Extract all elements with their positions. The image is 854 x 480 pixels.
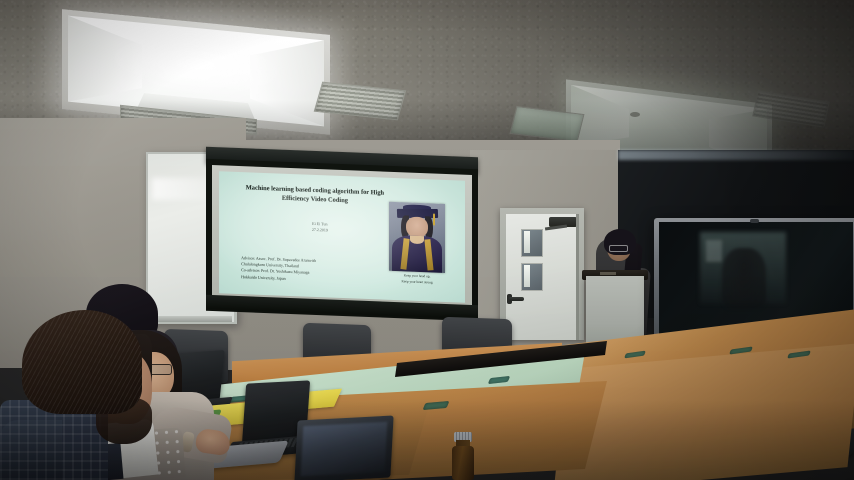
presenter-glasses-icon [609, 245, 628, 252]
podium-nameplate [600, 272, 616, 275]
tassel-icon [433, 213, 435, 225]
door-pane-glare [524, 231, 530, 253]
portrait-face [406, 216, 429, 237]
conference-room-photo: Machine learning based coding algorithm … [0, 0, 854, 480]
slide-title: Machine learning based coding algorithm … [244, 183, 387, 207]
slide-credits: Advisor: Assoc. Prof. Dr. Supavadee Aram… [241, 255, 374, 285]
attendee-man-hair-texture [22, 310, 142, 414]
slide-photo-caption: Keep your head up, Keep your heart stron… [384, 273, 450, 286]
slide-author-block: Ei Ei Tun 27.2.2019 [283, 220, 357, 235]
projection-screen-surface: Machine learning based coding algorithm … [219, 171, 465, 302]
caption-line: Keep your heart strong [384, 278, 450, 286]
door-jamb [576, 214, 579, 340]
laptop-screen-content [301, 422, 388, 476]
attendee-man-shoulder [0, 420, 62, 480]
display-camera-icon [750, 219, 759, 223]
door-lever-handle[interactable] [509, 297, 524, 301]
display-reflection-figure [722, 248, 766, 308]
door-pane-glare [524, 265, 530, 287]
display-reflection-window [706, 240, 722, 262]
graduation-portrait-photo [389, 202, 446, 272]
drink-bottle [452, 446, 474, 480]
dark-wall-top-edge [618, 150, 854, 160]
whiteboard-marker-tray [146, 316, 232, 322]
presentation-slide: Machine learning based coding algorithm … [219, 171, 465, 302]
